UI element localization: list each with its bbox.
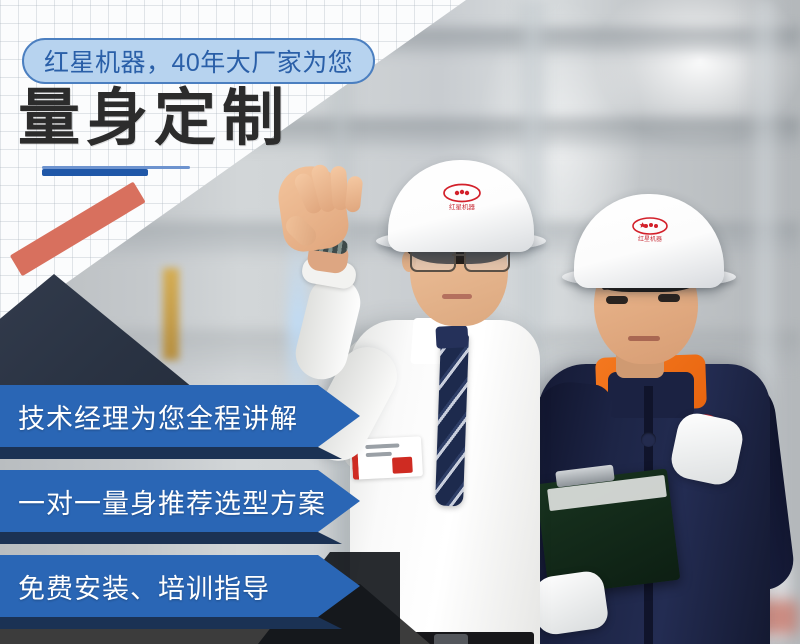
raised-hand-icon (274, 162, 351, 254)
feature-bar-label: 一对一量身推荐选型方案 (0, 482, 326, 521)
eye-icon (658, 294, 680, 302)
feature-bar-label: 免费安装、培训指导 (0, 567, 270, 606)
page-title: 量身定制 (18, 88, 290, 150)
feature-bar-label: 技术经理为您全程讲解 (0, 397, 298, 436)
feature-bar-shadow (0, 617, 360, 629)
svg-text:红星机器: 红星机器 (449, 202, 476, 211)
feature-bar-face: 免费安装、培训指导 (0, 555, 360, 617)
mouth-icon (628, 336, 660, 341)
feature-bar-face: 技术经理为您全程讲解 (0, 385, 360, 447)
striped-tie-icon (435, 334, 469, 507)
helmet-logo-icon: 红星机器 (434, 182, 490, 212)
belt-buckle-icon (434, 634, 468, 644)
svg-text:红星机器: 红星机器 (638, 235, 662, 243)
feature-bar-shadow (0, 447, 360, 459)
headline-underline-thick (42, 169, 148, 176)
helmet-logo-icon: 红星机器 (624, 216, 676, 244)
promo-banner: 红星机器 (0, 0, 800, 644)
mouth-icon (442, 294, 472, 299)
uniform-button-icon (641, 432, 656, 447)
feature-bar-face: 一对一量身推荐选型方案 (0, 470, 360, 532)
tagline-badge: 红星机器，40年大厂家为您 (22, 38, 375, 84)
tie-knot-icon (435, 325, 468, 349)
feature-bar-shadow (0, 532, 360, 544)
eye-icon (606, 296, 628, 304)
